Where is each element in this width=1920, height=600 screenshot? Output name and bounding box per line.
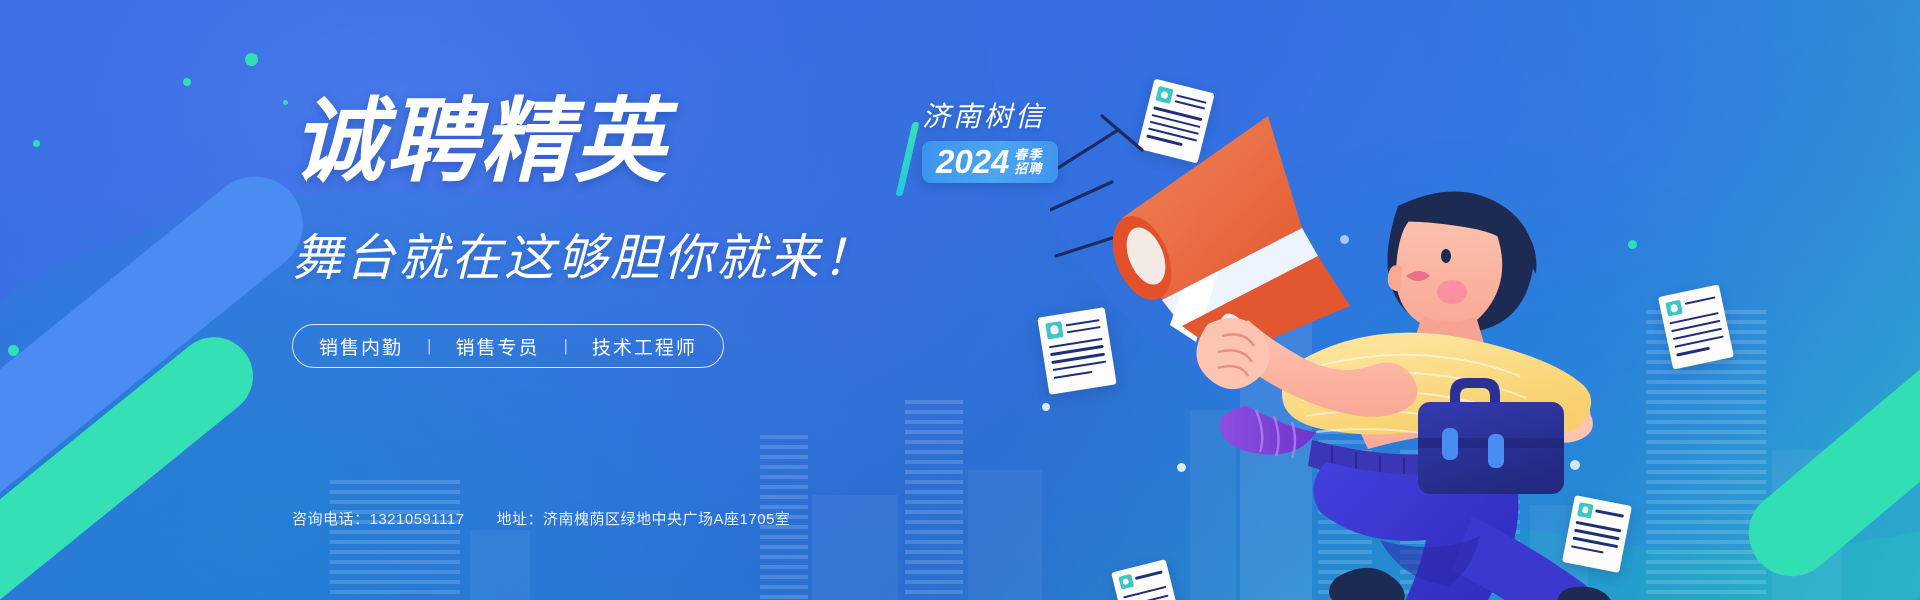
contact-info: 咨询电话：13210591117 地址：济南槐荫区绿地中央广场A座1705室 <box>292 508 790 529</box>
season-label: 春季 招聘 <box>1014 148 1042 176</box>
contact-address: 地址：济南槐荫区绿地中央广场A座1705室 <box>497 508 791 529</box>
subtitle: 舞台就在这够胆你就来！ <box>292 218 1052 290</box>
decorative-dot <box>33 140 40 147</box>
job-position-1[interactable]: 销售内勤 <box>319 333 403 360</box>
banner-copy: 诚聘精英 济南树信 2024 春季 招聘 舞台就在这够胆你就来！ 销售内勤 | … <box>292 96 1052 368</box>
year-label: 2024 <box>936 145 1009 178</box>
season-line-1: 春季 <box>1014 147 1042 162</box>
building <box>968 470 1042 600</box>
job-position-2[interactable]: 销售专员 <box>455 333 539 360</box>
building <box>330 480 460 600</box>
photo-placeholder <box>1156 86 1174 104</box>
shoe-left <box>1329 568 1405 600</box>
building <box>905 400 963 600</box>
text-line <box>1676 347 1710 356</box>
job-positions-pill: 销售内勤 | 销售专员 | 技术工程师 <box>292 324 724 368</box>
recruitment-banner: 诚聘精英 济南树信 2024 春季 招聘 舞台就在这够胆你就来！ 销售内勤 | … <box>0 0 1920 600</box>
decorative-dot <box>1042 403 1050 411</box>
season-line-2: 招聘 <box>1014 161 1042 176</box>
contact-phone[interactable]: 咨询电话：13210591117 <box>292 508 465 529</box>
briefcase-clasp <box>1488 434 1504 468</box>
figure-svg <box>1050 110 1670 600</box>
decorative-dot <box>183 78 191 86</box>
briefcase-clasp <box>1442 428 1458 460</box>
job-position-3[interactable]: 技术工程师 <box>592 333 697 360</box>
decorative-dot <box>283 100 288 105</box>
decorative-dot <box>245 53 258 66</box>
cheek <box>1437 280 1467 304</box>
brand-block: 济南树信 2024 春季 招聘 <box>922 102 1102 183</box>
position-separator: | <box>539 336 591 356</box>
decorative-dot <box>8 345 19 356</box>
building <box>470 530 530 600</box>
illustration-person-with-megaphone <box>1050 110 1670 600</box>
position-separator: | <box>403 336 455 356</box>
year-badge: 2024 春季 招聘 <box>922 141 1058 183</box>
text-line <box>1685 297 1716 306</box>
brand-name: 济南树信 <box>922 102 1102 133</box>
building <box>812 495 898 600</box>
eye <box>1441 249 1451 263</box>
